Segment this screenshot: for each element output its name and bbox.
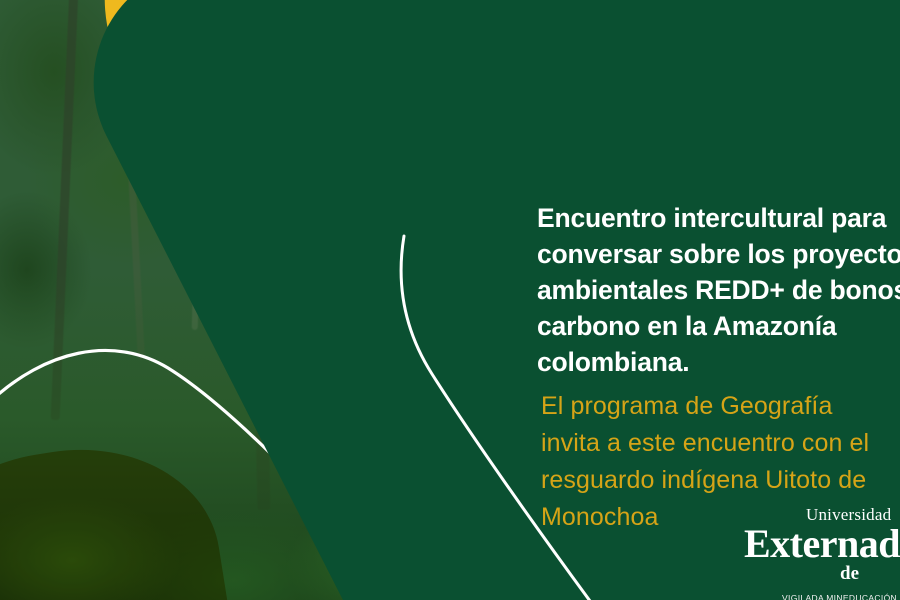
logo-de-text: de <box>840 564 900 584</box>
headline-line: ambientales REDD+ de bonos de <box>537 272 900 308</box>
headline-line: colombiana. <box>537 344 900 380</box>
headline-block: Encuentro intercultural para conversar s… <box>537 200 900 380</box>
subtitle-line: invita a este encuentro con el <box>541 425 900 462</box>
logo-vigilada-mineducacion-text: VIGILADA MINEDUCACIÓN <box>782 593 900 600</box>
subtitle-line: resguardo indígena Uitoto de <box>541 462 900 499</box>
universidad-externado-logo: Universidad Externado de VIGILADA MINEDU… <box>744 506 900 600</box>
headline-line: conversar sobre los proyectos <box>537 236 900 272</box>
headline-line: Encuentro intercultural para <box>537 200 900 236</box>
subtitle-line: El programa de Geografía <box>541 388 900 425</box>
poster-canvas: Encuentro intercultural para conversar s… <box>0 0 900 600</box>
headline-line: carbono en la Amazonía <box>537 308 900 344</box>
poster-content: Encuentro intercultural para conversar s… <box>0 0 900 600</box>
logo-externado-text: Externado <box>744 524 900 564</box>
